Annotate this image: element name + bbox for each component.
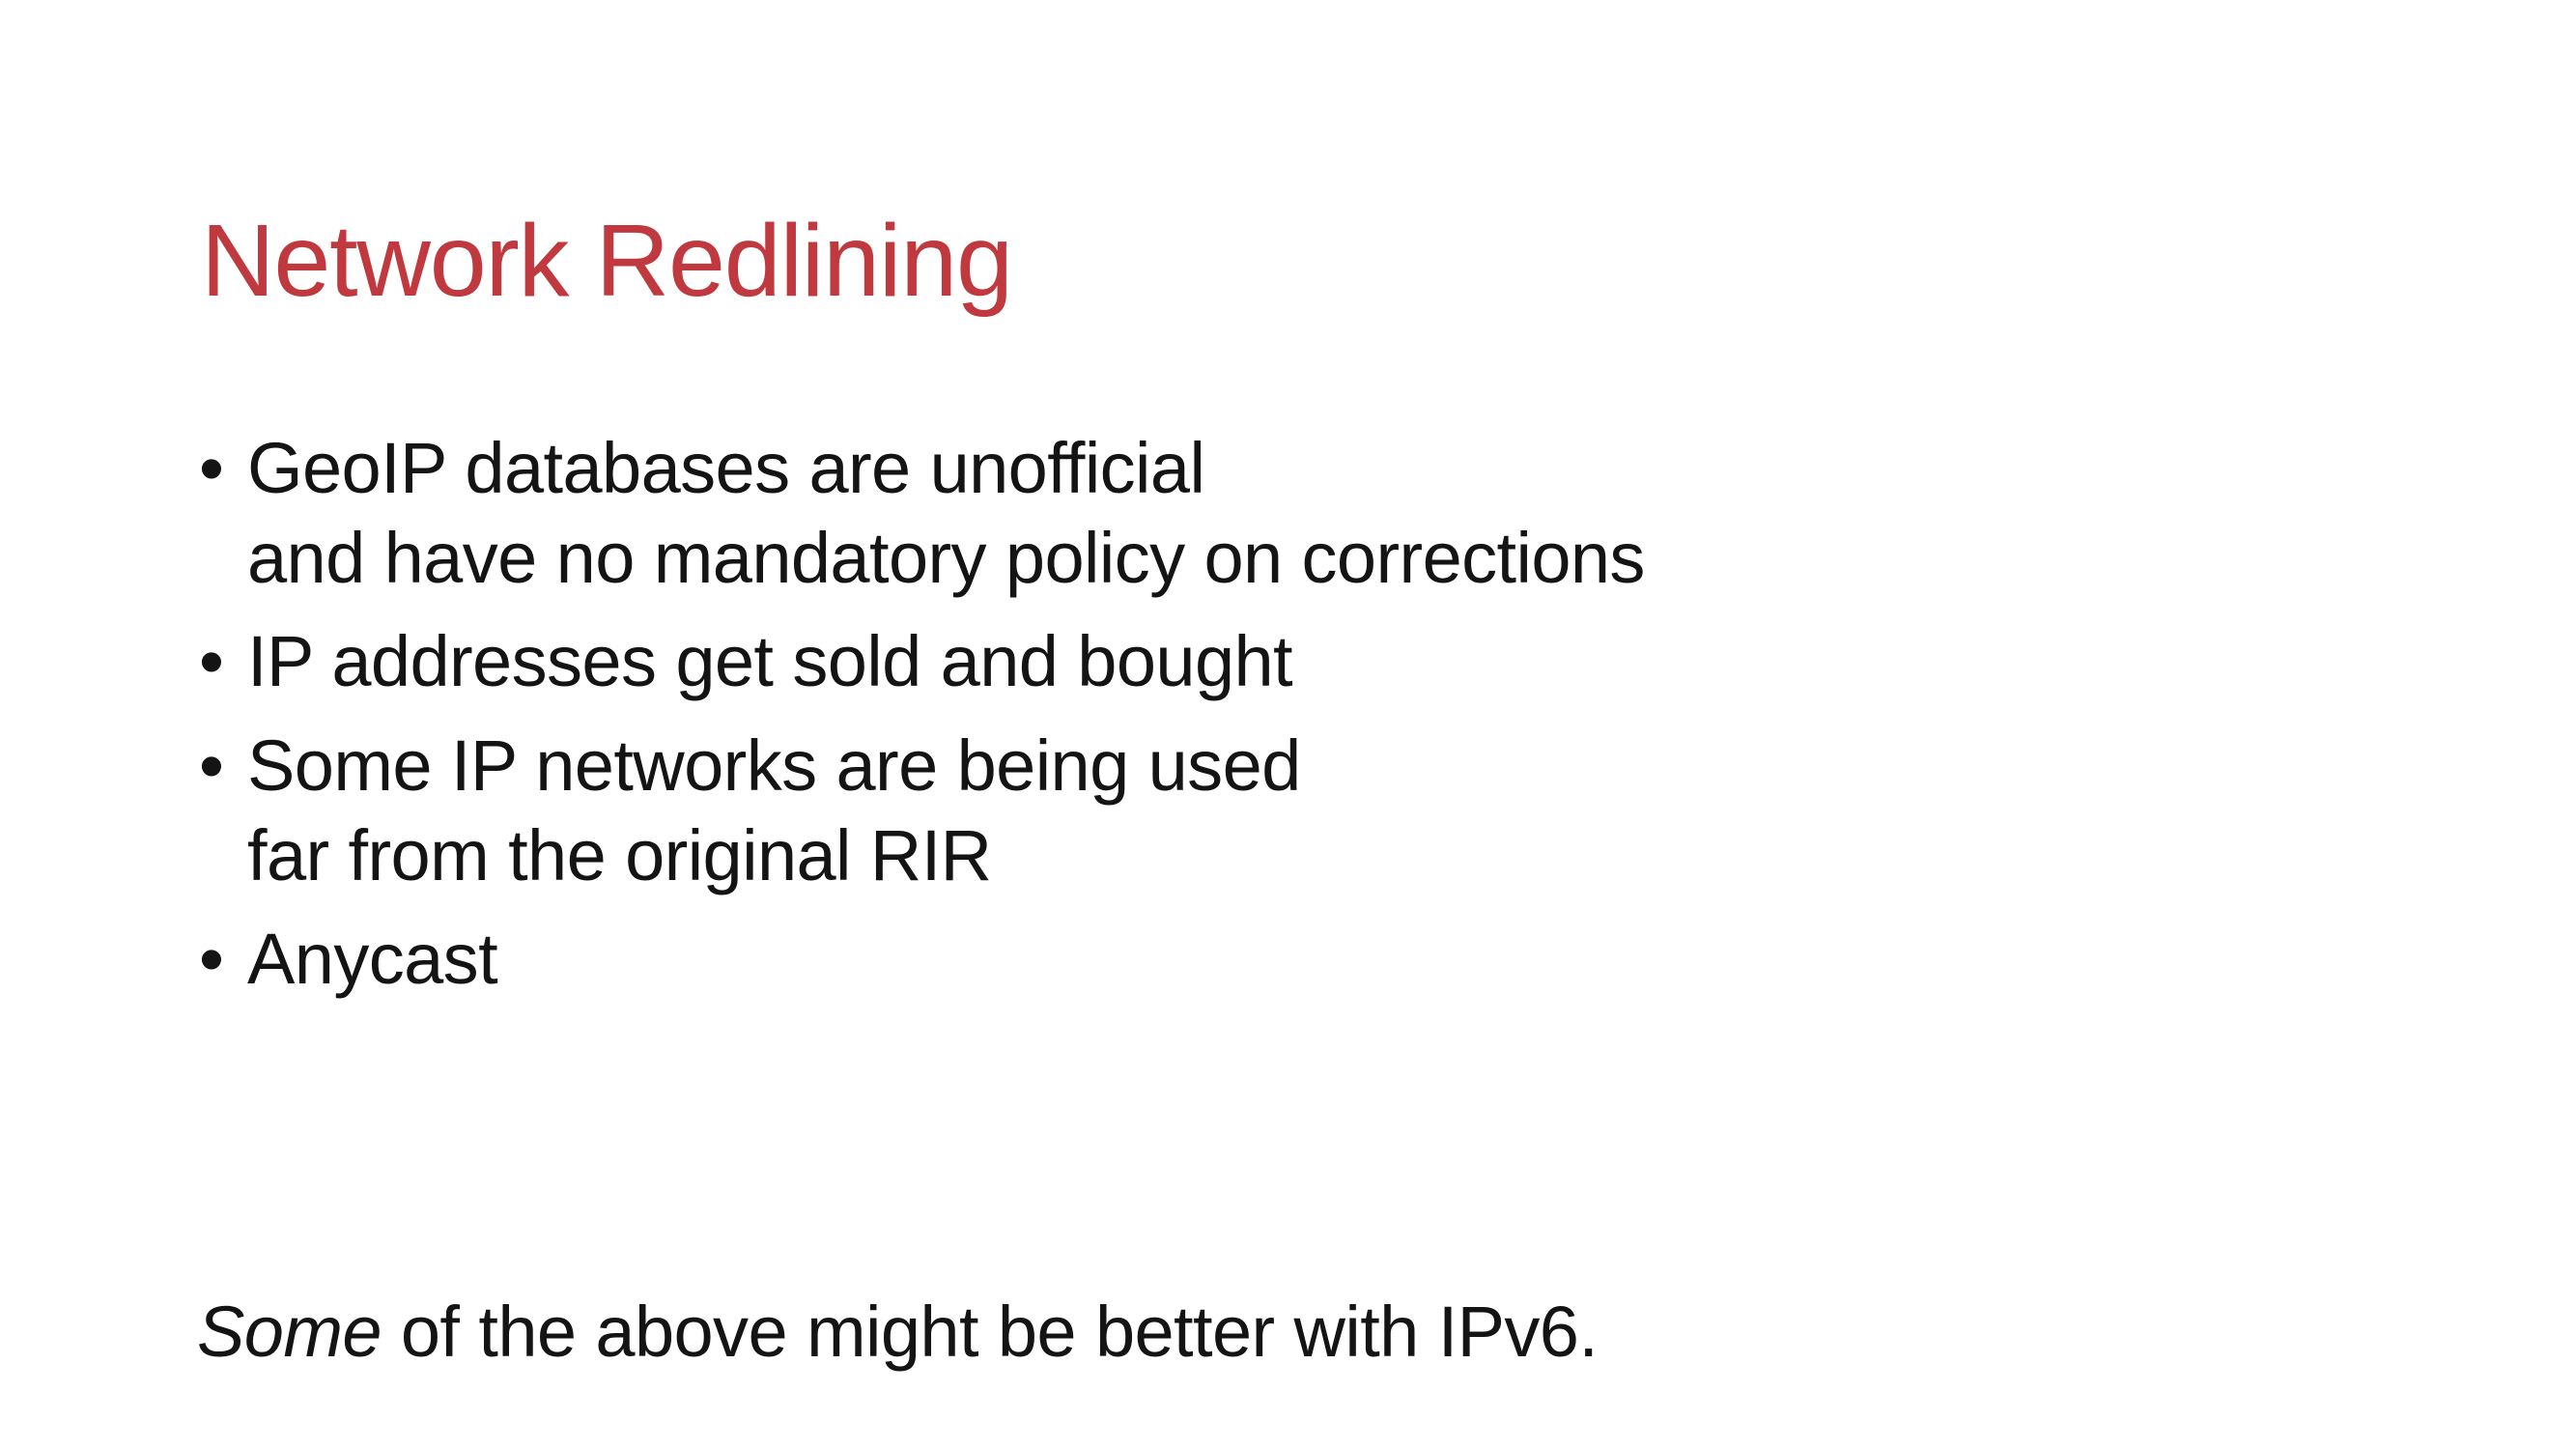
bullet-dot-icon: • — [199, 914, 238, 1004]
list-item: • Some IP networks are being used far fr… — [197, 721, 2419, 900]
list-item-line: far from the original RIR — [247, 810, 2419, 900]
list-item-line: Some IP networks are being used — [247, 721, 2419, 810]
closing-rest: of the above might be better with IPv6. — [382, 1292, 1598, 1372]
list-item: • Anycast — [197, 914, 2419, 1004]
list-item-line: GeoIP databases are unofficial — [247, 423, 2419, 513]
list-item-line: and have no mandatory policy on correcti… — [247, 513, 2419, 603]
list-item: • IP addresses get sold and bought — [197, 616, 2419, 706]
closing-emphasis: Some — [197, 1292, 382, 1372]
bullet-dot-icon: • — [199, 616, 238, 706]
list-item-line: IP addresses get sold and bought — [247, 616, 2419, 706]
bullet-dot-icon: • — [199, 721, 238, 810]
list-item: • GeoIP databases are unofficial and hav… — [197, 423, 2419, 603]
slide-canvas: Network Redlining • GeoIP databases are … — [0, 0, 2576, 1449]
closing-statement: Some of the above might be better with I… — [197, 1287, 1598, 1377]
page-title: Network Redlining — [201, 204, 2326, 319]
bullet-dot-icon: • — [199, 423, 238, 513]
bullet-list: • GeoIP databases are unofficial and hav… — [197, 423, 2419, 1017]
list-item-line: Anycast — [247, 914, 2419, 1004]
